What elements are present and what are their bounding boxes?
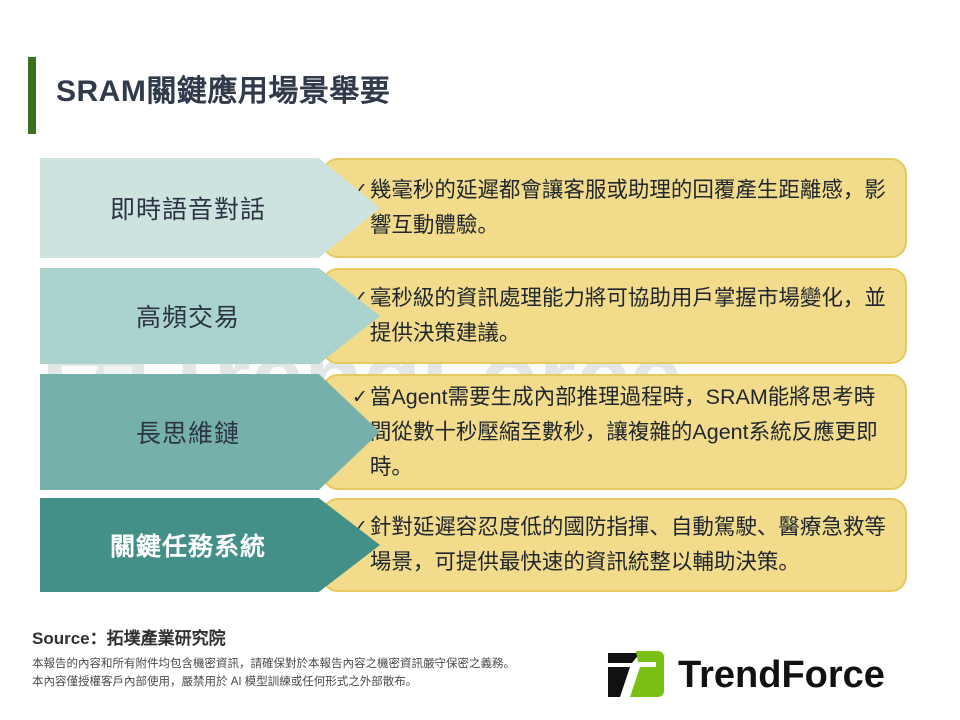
bullet-line: ✓ 針對延遲容忍度低的國防指揮、自動駕駛、醫療急救等場景，可提供最快速的資訊統整… [352,510,891,580]
scenario-label-realtime-voice: 即時語音對話 [40,158,380,258]
brand-name-text: TrendForce [678,654,885,696]
bullet-line: ✓ 毫秒級的資訊處理能力將可協助用戶掌握市場變化，並提供決策建議。 [352,281,891,351]
bullet-text: 幾毫秒的延遲都會讓客服或助理的回覆產生距離感，影響互動體驗。 [370,173,891,243]
bullet-text: 當Agent需要生成內部推理過程時，SRAM能將思考時間從數十秒壓縮至數秒，讓複… [370,380,891,485]
disclaimer-line-2: 本內容僅授權客戶內部使用，嚴禁用於 AI 模型訓練或任何形式之外部散布。 [32,673,515,691]
scenario-panel-inner: ✓ 針對延遲容忍度低的國防指揮、自動駕駛、醫療急救等場景，可提供最快速的資訊統整… [352,500,891,590]
slide-root: TrendForce SRAM關鍵應用場景舉要 ✓ 幾毫秒的延遲都會讓客服或助理… [0,0,960,720]
scenario-row: ✓ 毫秒級的資訊處理能力將可協助用戶掌握市場變化，並提供決策建議。 高頻交易 [0,268,960,364]
page-title: SRAM關鍵應用場景舉要 [56,66,390,110]
scenario-row: ✓ 針對延遲容忍度低的國防指揮、自動駕駛、醫療急救等場景，可提供最快速的資訊統整… [0,498,960,592]
scenario-panel-inner: ✓ 毫秒級的資訊處理能力將可協助用戶掌握市場變化，並提供決策建議。 [352,270,891,362]
scenario-panel: ✓ 當Agent需要生成內部推理過程時，SRAM能將思考時間從數十秒壓縮至數秒，… [322,374,907,490]
disclaimer-block: 本報告的內容和所有附件均包含機密資訊，請確保對於本報告內容之機密資訊嚴守保密之義… [32,655,515,691]
disclaimer-line-1: 本報告的內容和所有附件均包含機密資訊，請確保對於本報告內容之機密資訊嚴守保密之義… [32,655,515,673]
scenario-panel: ✓ 毫秒級的資訊處理能力將可協助用戶掌握市場變化，並提供決策建議。 [322,268,907,364]
bullet-text: 針對延遲容忍度低的國防指揮、自動駕駛、醫療急救等場景，可提供最快速的資訊統整以輔… [370,510,891,580]
scenario-label-high-frequency-trading: 高頻交易 [40,268,380,364]
bullet-line: ✓ 當Agent需要生成內部推理過程時，SRAM能將思考時間從數十秒壓縮至數秒，… [352,380,891,485]
scenario-panel: ✓ 針對延遲容忍度低的國防指揮、自動駕駛、醫療急救等場景，可提供最快速的資訊統整… [322,498,907,592]
trendforce-logo: TrendForce [600,645,930,701]
scenario-label-text: 長思維鏈 [136,414,284,450]
scenario-label-mission-critical-systems: 關鍵任務系統 [40,498,380,592]
scenario-panel-inner: ✓ 幾毫秒的延遲都會讓客服或助理的回覆產生距離感，影響互動體驗。 [352,160,891,256]
scenario-label-text: 即時語音對話 [110,190,310,226]
source-label: Source：拓墣產業研究院 [32,624,226,649]
scenario-panel-inner: ✓ 當Agent需要生成內部推理過程時，SRAM能將思考時間從數十秒壓縮至數秒，… [352,376,891,488]
trendforce-logo-svg: TrendForce [600,645,930,701]
scenario-label-text: 關鍵任務系統 [110,527,310,563]
title-accent-bar [28,57,36,134]
scenario-label-text: 高頻交易 [136,298,284,334]
logo-mark-icon [608,651,664,697]
bullet-line: ✓ 幾毫秒的延遲都會讓客服或助理的回覆產生距離感，影響互動體驗。 [352,173,891,243]
scenario-row: ✓ 幾毫秒的延遲都會讓客服或助理的回覆產生距離感，影響互動體驗。 即時語音對話 [0,158,960,258]
bullet-text: 毫秒級的資訊處理能力將可協助用戶掌握市場變化，並提供決策建議。 [370,281,891,351]
scenario-row: ✓ 當Agent需要生成內部推理過程時，SRAM能將思考時間從數十秒壓縮至數秒，… [0,374,960,490]
scenario-label-long-chain-of-thought: 長思維鏈 [40,374,380,490]
scenario-panel: ✓ 幾毫秒的延遲都會讓客服或助理的回覆產生距離感，影響互動體驗。 [322,158,907,258]
